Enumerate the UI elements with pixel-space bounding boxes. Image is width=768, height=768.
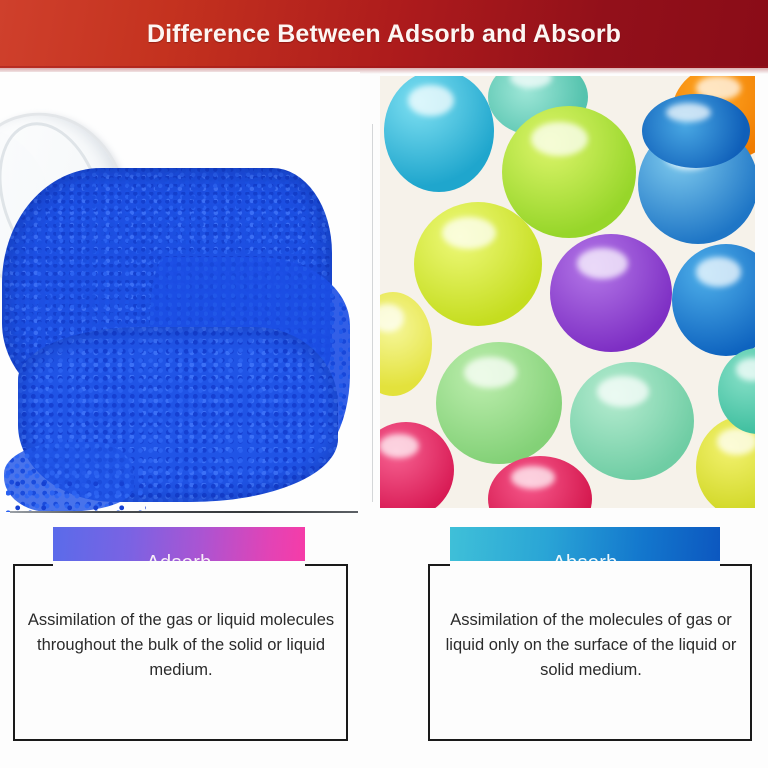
bead-pink-bottomleft bbox=[380, 422, 454, 508]
bead-mint-bottommid bbox=[570, 362, 694, 480]
description-text-adsorb: Assimilation of the gas or liquid molecu… bbox=[21, 608, 341, 683]
bead-blue-right-deep bbox=[642, 94, 750, 168]
silica-crystal-scatter bbox=[6, 467, 146, 512]
border-notch-adsorb bbox=[53, 561, 305, 567]
bead-green-bottomleft bbox=[436, 342, 562, 464]
border-notch-absorb bbox=[450, 561, 720, 567]
bead-yellow-left-mid bbox=[414, 202, 542, 326]
description-text-absorb: Assimilation of the molecules of gas or … bbox=[436, 608, 746, 683]
horizontal-rule-left bbox=[10, 511, 358, 513]
bead-purple-center bbox=[550, 234, 672, 352]
bead-yellow-edge-left bbox=[380, 292, 432, 396]
vertical-divider bbox=[372, 124, 373, 502]
bead-blue-right-lower bbox=[672, 244, 755, 356]
infographic-page: Difference Between Adsorb and Absorb bbox=[0, 0, 768, 768]
bead-cyan-topleft bbox=[384, 76, 494, 192]
image-adsorb-silica-gel bbox=[0, 72, 360, 512]
image-absorb-water-beads bbox=[380, 76, 755, 508]
page-title: Difference Between Adsorb and Absorb bbox=[147, 20, 621, 49]
header-banner: Difference Between Adsorb and Absorb bbox=[0, 0, 768, 68]
